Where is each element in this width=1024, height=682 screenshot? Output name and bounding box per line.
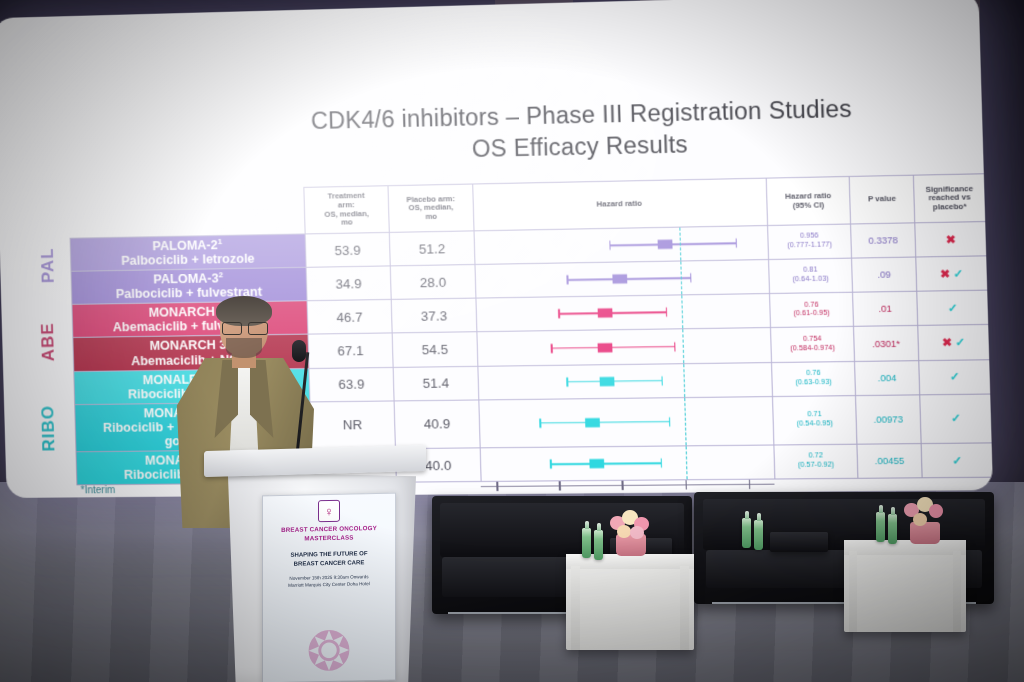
water-bottle [754,520,763,550]
forest-plot-axis: 0.40.60.81.01.2Favors CDK4/6iFavors PBO [481,484,775,486]
significance-check-icon: ✓ [950,371,960,384]
hazard-ratio-ci-cell: 0.76(0.61-0.95) [770,293,854,328]
flower-bloom [630,526,644,539]
study-regimen: Palbociclib + letrozole [72,251,304,269]
ci-cap-high [661,376,663,385]
significance-cell: ✖ [915,222,987,258]
forest-plot-marker [479,397,773,447]
hazard-ratio-ci-cell: 0.81(0.64-1.03) [769,258,853,294]
projection-screen: CDK4/6 inhibitors – Phase III Registrati… [0,0,993,498]
axis-tick [559,481,561,490]
forest-plot-cell [478,362,773,400]
forest-plot-marker [481,445,775,481]
table-leg-left [849,551,858,632]
axis-tick [749,480,751,489]
forest-plot-cell [475,260,770,299]
axis-tick [496,482,498,491]
podium-event-sign: BREAST CANCER ONCOLOGY MASTERCLASS SHAPI… [262,493,396,682]
forest-plot-marker [477,329,771,366]
hazard-ratio-ci-cell: 0.76(0.63-0.93) [772,361,856,396]
treatment-os-cell: 63.9 [309,367,394,402]
p-value-cell: .09 [852,257,917,292]
th-study [69,187,305,238]
reference-line [682,330,684,363]
ci-cap-high [690,273,692,282]
podium: BREAST CANCER ONCOLOGY MASTERCLASS SHAPI… [196,448,431,682]
placebo-os-cell: 51.2 [389,231,475,266]
flower-bloom [617,525,631,538]
p-value-cell: .00973 [856,395,922,445]
event-details: November 15th 2025 9:30am Onwards Marrio… [263,570,395,594]
water-bottle [742,518,751,548]
ci-cap-high [736,239,738,248]
point-estimate-box [585,418,600,427]
forest-plot-marker [476,260,769,298]
significance-cross-icon: ✖ [946,234,956,247]
treatment-os-cell: NR [310,401,396,450]
point-estimate-box [598,309,613,318]
p-value-cell: .0301* [854,326,919,361]
significance-cross-icon: ✖ [940,268,950,281]
side-label-ribo: RIBO [37,377,59,451]
significance-cell: ✓ [919,359,991,394]
significance-cell: ✓ [920,394,992,444]
ci-cap-high [665,308,667,317]
flower-bloom [913,513,927,526]
th-p-value: P value [849,175,915,224]
awareness-ribbon-icon: ❂ [306,625,351,680]
ci-cap-low [609,241,611,250]
point-estimate-box [658,240,673,249]
flower-arrangement-right [898,494,952,544]
ci-cap-high [660,458,662,467]
forest-plot-cell [480,445,775,482]
significance-check-icon: ✓ [948,302,958,315]
hazard-ratio-interval: (0.57-0.92) [776,461,856,471]
treatment-os-cell: 67.1 [308,333,393,368]
th-treatment-arm: Treatmentarm:OS, median,mo [304,186,389,234]
placebo-os-cell: 40.9 [394,400,480,449]
axis-line [481,484,775,487]
hazard-ratio-interval: (0.584-0.974) [773,344,853,354]
water-bottle [888,514,897,544]
table-leg-right [953,551,962,632]
significance-check-icon: ✓ [953,268,963,281]
ci-cap-low [566,377,568,386]
slide-footnote: *Interim [80,485,115,496]
hazard-ratio-ci-cell: 0.956(0.777-1.177) [768,224,852,260]
hazard-ratio-interval: (0.63-0.93) [774,378,854,388]
point-estimate-box [597,343,612,352]
point-estimate-box [590,459,605,468]
ci-cap-high [674,342,676,351]
microphone-icon [292,340,306,362]
side-label-pal: PAL [37,225,59,283]
hazard-ratio-ci-cell: 0.71(0.54-0.95) [772,395,856,445]
presentation-slide: CDK4/6 inhibitors – Phase III Registrati… [0,0,993,498]
placebo-os-cell: 28.0 [390,265,476,300]
ci-cap-low [558,309,560,318]
treatment-os-cell: 46.7 [307,300,392,335]
hazard-ratio-interval: (0.777-1.177) [770,241,850,251]
significance-cell: ✓ [921,443,993,478]
forest-plot-marker [476,294,770,331]
placebo-os-cell: 51.4 [393,366,479,401]
hazard-ratio-ci-cell: 0.754(0.584-0.974) [771,327,855,362]
forest-plot-cell [476,294,771,332]
slide-title: CDK4/6 inhibitors – Phase III Registrati… [248,92,919,170]
forest-plot-marker [475,226,768,264]
side-table-right [844,540,966,632]
ci-cap-low [550,459,552,468]
study-cell: PALOMA-21Palbociclib + letrozole [70,234,306,272]
table-leg-right [680,566,689,650]
hazard-ratio-interval: (0.54-0.95) [775,420,855,430]
significance-check-icon: ✓ [955,337,965,350]
event-logo-icon [318,500,340,522]
forest-plot-marker [478,363,772,400]
axis-tick [685,480,687,489]
hazard-ratio-interval: (0.64-1.03) [771,275,851,285]
event-details-line2: Marriott Marquis City Center Doha Hotel [267,580,391,589]
point-estimate-box [600,377,615,386]
p-value-cell: 0.3378 [851,223,916,258]
side-table-left [566,554,694,650]
flower-bloom [929,504,943,518]
hazard-ratio-interval: (0.61-0.95) [772,310,852,320]
water-bottle [582,528,591,558]
speaker-beard [226,338,262,358]
reference-line [681,296,683,329]
axis-tick [622,481,624,490]
forest-plot-cell [479,396,774,447]
event-tagline-line2: BREAST CANCER CARE [269,559,389,571]
ci-cap-low [551,343,553,352]
significance-cross-icon: ✖ [942,337,952,350]
ci-cap-low [539,419,541,428]
placebo-os-cell: 54.5 [392,332,478,367]
water-bottle [876,512,885,542]
side-label-abe: ABE [37,299,59,361]
th-placebo-arm: Placebo arm:OS, median,mo [388,184,474,232]
th-hazard-ratio-ci: Hazard ratio(95% CI) [766,176,850,225]
p-value-cell: .01 [853,292,918,327]
flower-arrangement-left [604,506,658,556]
eyeglasses-icon [222,322,268,333]
ci-line [550,462,660,465]
water-bottle [594,530,603,560]
sofa-cushion-right [770,532,828,552]
significance-check-icon: ✓ [952,455,962,468]
event-title: BREAST CANCER ONCOLOGY MASTERCLASS [263,523,395,548]
ci-cap-low [567,275,569,284]
table-leg-left [571,566,580,650]
ci-line [567,277,690,281]
forest-plot-cell [477,328,772,366]
significance-check-icon: ✓ [951,413,961,426]
p-value-cell: .00455 [857,444,922,479]
significance-cell: ✖ ✓ [918,325,990,360]
reference-line [685,446,687,479]
ci-line [539,421,668,424]
th-significance: Significancereached vsplacebo* [913,174,985,223]
significance-cell: ✖ ✓ [916,256,988,292]
forest-plot-cell [474,226,769,265]
p-value-cell: .004 [855,360,920,395]
significance-cell: ✓ [917,290,989,325]
reference-line [683,364,685,397]
treatment-os-cell: 34.9 [306,266,391,301]
reference-line [684,398,686,445]
hazard-ratio-ci-cell: 0.72(0.57-0.92) [774,444,858,479]
th-hazard-ratio-plot: Hazard ratio [473,178,768,231]
ci-cap-high [669,417,671,426]
placebo-os-cell: 37.3 [391,298,477,333]
ci-line [551,346,674,349]
treatment-os-cell: 53.9 [305,232,390,267]
vase [910,522,940,544]
event-tagline: SHAPING THE FUTURE OF BREAST CANCER CARE [263,545,395,573]
podium-top [204,445,426,477]
point-estimate-box [613,274,628,283]
